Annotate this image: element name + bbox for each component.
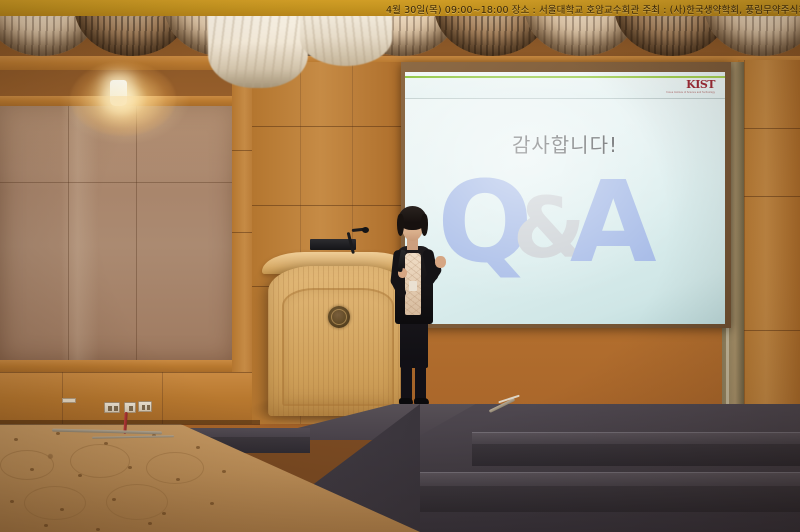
- presenter-shoe-right: [414, 398, 429, 405]
- presenter-leg-left: [401, 360, 412, 402]
- wall-panel-line: [738, 330, 800, 331]
- lectern-crest-emblem: [328, 306, 350, 328]
- slide-header-band: [405, 78, 725, 98]
- wall-wood-column-right: [738, 60, 800, 428]
- wall-panel-line: [252, 126, 404, 127]
- event-banner: 4월 30일(목) 09:00~18:00 장소 : 서울대학교 호암교수회관 …: [0, 0, 800, 16]
- wall-panel-line: [162, 372, 163, 424]
- kist-logo: KIST: [686, 79, 715, 90]
- curtain-valance: [0, 14, 800, 60]
- wall-plate: [62, 398, 76, 403]
- qa-letter-a: A: [570, 158, 657, 288]
- stage-step-upper-face: [472, 444, 800, 466]
- wall-sconce-light-spill: [60, 96, 190, 144]
- presenter-leg-right: [415, 360, 426, 402]
- banner-text: 4월 30일(목) 09:00~18:00 장소 : 서울대학교 호암교수회관 …: [386, 2, 800, 16]
- wall-trim: [0, 360, 252, 372]
- slide-qa-graphic: Q&A: [405, 167, 725, 279]
- wall-power-outlet: [104, 402, 120, 413]
- stage-step-edge: [390, 472, 800, 473]
- curtain-swag: [704, 14, 800, 56]
- projection-screen: KIST Korea Institute of Science and Tech…: [405, 72, 725, 324]
- kist-logo-subtitle: Korea Institute of Science and Technolog…: [666, 91, 715, 94]
- slide-thanks-text: 감사합니다!: [405, 129, 725, 158]
- presenter-shoe-left: [399, 398, 413, 405]
- slide-header-underline: [405, 98, 725, 99]
- wall-power-outlet: [138, 401, 152, 412]
- presenter-hair-side-right: [421, 214, 428, 236]
- floor-wall-junction: [0, 420, 260, 425]
- stage-step-edge: [472, 432, 800, 433]
- wall-panel-line: [744, 60, 745, 428]
- panel-seam: [0, 182, 235, 183]
- wall-panel-line: [738, 196, 800, 197]
- presenter-hair-side-left: [397, 214, 404, 236]
- wall-panel-line: [0, 372, 260, 373]
- presenter-hand-gesturing: [435, 256, 446, 268]
- wall-panel-line: [252, 205, 404, 206]
- conference-hall-photo: 4월 30일(목) 09:00~18:00 장소 : 서울대학교 호암교수회관 …: [0, 0, 800, 532]
- wall-panel-line: [738, 128, 800, 129]
- presenter-name-badge: [409, 281, 417, 291]
- stage-step-lower-face: [390, 486, 800, 512]
- microphone-head: [362, 227, 369, 233]
- wall-baseboard: [0, 372, 260, 424]
